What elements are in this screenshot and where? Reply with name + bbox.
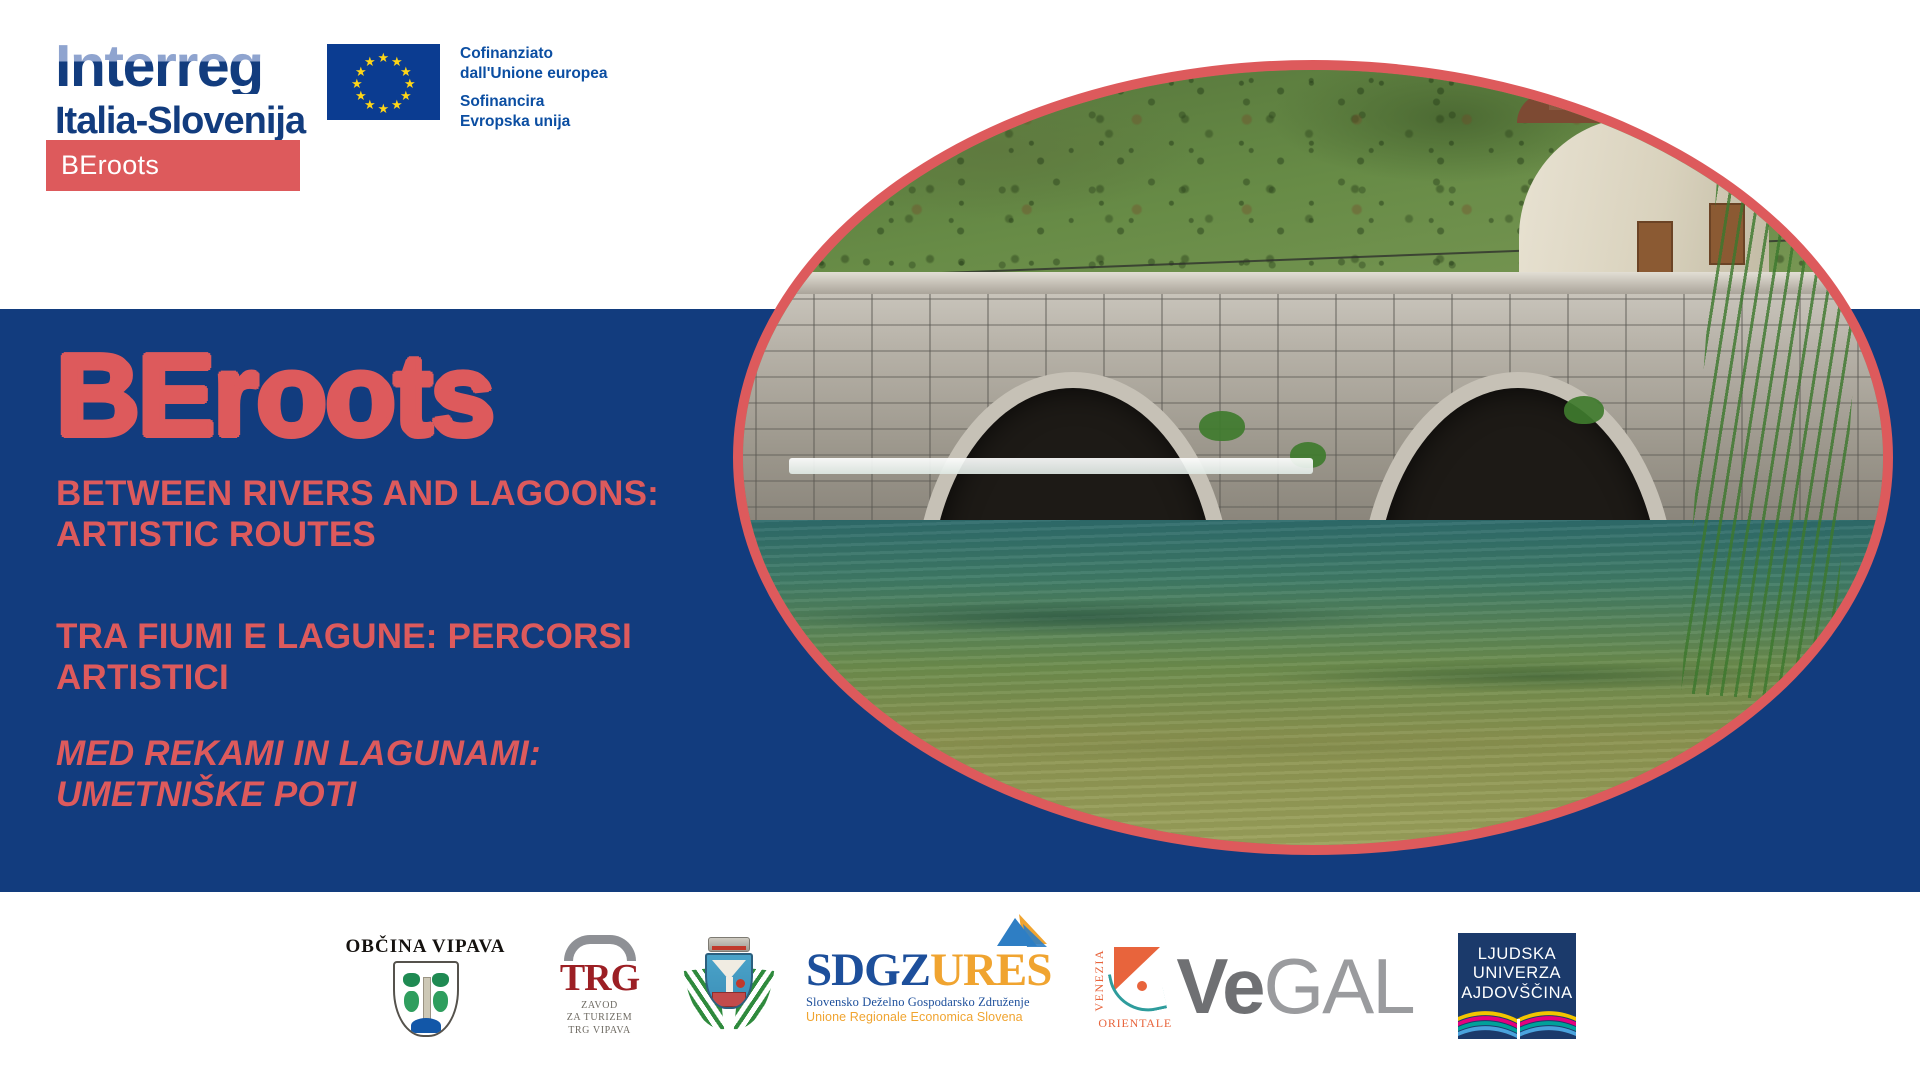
trg-sub-line3: TRG VIPAVA — [567, 1025, 633, 1038]
vegal-symbol-icon: VENEZIA ORIENTALE — [1092, 943, 1164, 1029]
eu-text-it-line2: dall'Unione europea — [460, 64, 608, 84]
hero-subtitle-italian: TRA FIUMI E LAGUNE: PERCORSI ARTISTICI — [56, 616, 716, 699]
sdgz-subtitle-italian: Unione Regionale Economica Slovena — [806, 1010, 1023, 1024]
sdgz-subtitle-slovenian: Slovensko Deželno Gospodarsko Združenje — [806, 995, 1030, 1010]
photo-vine-3 — [1564, 396, 1604, 424]
partner-logo-comune — [686, 937, 772, 1035]
vegal-venezia-label: VENEZIA — [1092, 949, 1107, 1011]
partner-logo-ljudska-univerza-ajdovscina: LJUDSKA UNIVERZA AJDOVŠČINA — [1452, 933, 1582, 1039]
hero-subtitle-english: BETWEEN RIVERS AND LAGOONS: ARTISTIC ROU… — [56, 473, 716, 556]
sdgz-wordmark-b: URES — [930, 948, 1051, 993]
sdgz-mountain-icon — [993, 914, 1047, 948]
page-title: BEroots — [56, 337, 716, 453]
partner-logo-bar: OBČINA VIPAVA TRG ZAVOD ZA TURIZEM TRG V… — [0, 892, 1920, 1080]
hero-text-column: BEroots BETWEEN RIVERS AND LAGOONS: ARTI… — [56, 337, 716, 816]
hero-photo-ellipse — [733, 60, 1893, 855]
trg-wordmark: TRG — [560, 959, 639, 997]
lua-line-2: UNIVERZA — [1473, 964, 1561, 983]
vegal-wordmark-b: GAL — [1264, 947, 1414, 1025]
eu-text-it-line1: Cofinanziato — [460, 44, 608, 64]
hero-subtitle-slovenian: MED REKAMI IN LAGUNAMI: UMETNIŠKE POTI — [56, 733, 716, 816]
sdgz-wordmark-a: SDGZ — [806, 948, 930, 993]
obcina-vipava-label: OBČINA VIPAVA — [346, 936, 506, 958]
trg-sub-line1: ZAVOD — [567, 1000, 633, 1013]
lua-line-3: AJDOVŠČINA — [1461, 984, 1572, 1003]
photo-weir — [789, 458, 1313, 474]
ljudska-univerza-badge: LJUDSKA UNIVERZA AJDOVŠČINA — [1458, 933, 1576, 1039]
trg-subtitle: ZAVOD ZA TURIZEM TRG VIPAVA — [567, 1000, 633, 1038]
beroots-project-badge: BEroots — [46, 140, 300, 191]
comune-coat-of-arms-icon — [689, 937, 769, 1035]
trg-sub-line2: ZA TURIZEM — [567, 1012, 633, 1025]
beroots-badge-label: BEroots — [46, 150, 159, 181]
hero-photo-image — [743, 70, 1883, 845]
lua-open-book-icon — [1458, 1003, 1576, 1039]
photo-chimney — [1549, 70, 1575, 110]
eu-cofunding-text: Cofinanziato dall'Unione europea Sofinan… — [460, 44, 608, 131]
vegal-wordmark-a: Ve — [1176, 947, 1263, 1025]
photo-vine-1 — [1199, 411, 1245, 441]
european-union-flag-icon — [327, 44, 440, 120]
eu-text-sl-line2: Evropska unija — [460, 112, 608, 132]
obcina-vipava-coat-of-arms-icon — [393, 961, 459, 1037]
eu-cofunding-block: Cofinanziato dall'Unione europea Sofinan… — [327, 44, 608, 131]
partner-logo-vegal: VENEZIA ORIENTALE Ve GAL — [1088, 943, 1418, 1029]
partner-logo-trg-vipava: TRG ZAVOD ZA TURIZEM TRG VIPAVA — [547, 935, 652, 1038]
eu-text-sl-line1: Sofinancira — [460, 92, 608, 112]
partner-logo-obcina-vipava: OBČINA VIPAVA — [338, 936, 513, 1037]
lua-line-1: LJUDSKA — [1478, 945, 1556, 964]
partner-logo-sdgz-ures: SDGZ URES Slovensko Deželno Gospodarsko … — [806, 948, 1054, 1024]
vegal-orientale-label: ORIENTALE — [1098, 1016, 1172, 1031]
